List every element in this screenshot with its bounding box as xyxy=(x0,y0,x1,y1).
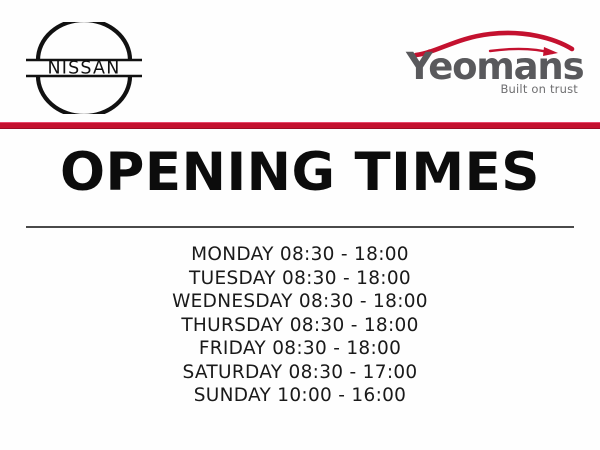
list-item: SUNDAY 10:00 - 16:00 xyxy=(0,384,600,408)
list-item: MONDAY 08:30 - 18:00 xyxy=(0,243,600,267)
list-item: TUESDAY 08:30 - 18:00 xyxy=(0,267,600,291)
list-item: WEDNESDAY 08:30 - 18:00 xyxy=(0,290,600,314)
page-title: OPENING TIMES xyxy=(0,140,600,206)
yeomans-tagline: Built on trust xyxy=(500,82,578,96)
yeomans-logo: Yeomans Built on trust xyxy=(400,28,580,100)
list-item: THURSDAY 08:30 - 18:00 xyxy=(0,314,600,338)
nissan-logo: NISSAN xyxy=(24,22,144,114)
opening-hours-list: MONDAY 08:30 - 18:00 TUESDAY 08:30 - 18:… xyxy=(0,243,600,408)
yeomans-wordmark: Yeomans xyxy=(406,48,580,85)
red-divider xyxy=(0,122,600,129)
nissan-wordmark: NISSAN xyxy=(47,59,120,79)
list-item: SATURDAY 08:30 - 17:00 xyxy=(0,361,600,385)
title-underline-rule xyxy=(26,226,574,228)
list-item: FRIDAY 08:30 - 18:00 xyxy=(0,337,600,361)
poster-header: NISSAN Yeomans Built on trust xyxy=(0,0,600,124)
opening-times-poster: NISSAN Yeomans Built on trust xyxy=(0,0,600,450)
